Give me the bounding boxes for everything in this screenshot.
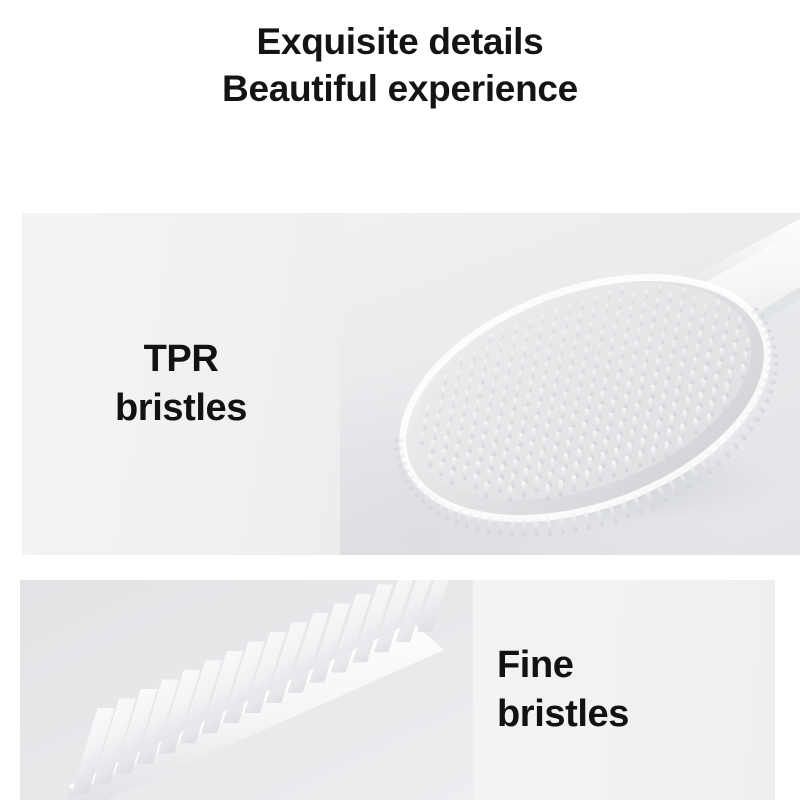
- feature-caption-fine-line-2: bristles: [497, 690, 629, 739]
- feature-panel-fine: Fine bristles: [20, 580, 775, 800]
- feature-photo-fine: [20, 580, 473, 800]
- feature-label-tpr: TPR bristles: [22, 213, 340, 555]
- feature-photo-tpr: [340, 213, 800, 555]
- feature-caption-fine: Fine bristles: [497, 641, 629, 739]
- page-title: Exquisite details Beautiful experience: [0, 18, 800, 112]
- page-title-line-2: Beautiful experience: [0, 65, 800, 112]
- feature-caption-tpr-line-2: bristles: [115, 384, 247, 433]
- feature-label-fine: Fine bristles: [473, 580, 775, 800]
- tpr-brush-head-illustration: [340, 213, 800, 555]
- feature-caption-tpr-line-1: TPR: [115, 335, 247, 384]
- fine-bristle-brush-illustration: [20, 580, 473, 800]
- feature-panel-tpr: TPR bristles: [22, 213, 800, 555]
- feature-caption-fine-line-1: Fine: [497, 641, 629, 690]
- page-title-line-1: Exquisite details: [0, 18, 800, 65]
- feature-caption-tpr: TPR bristles: [115, 335, 247, 433]
